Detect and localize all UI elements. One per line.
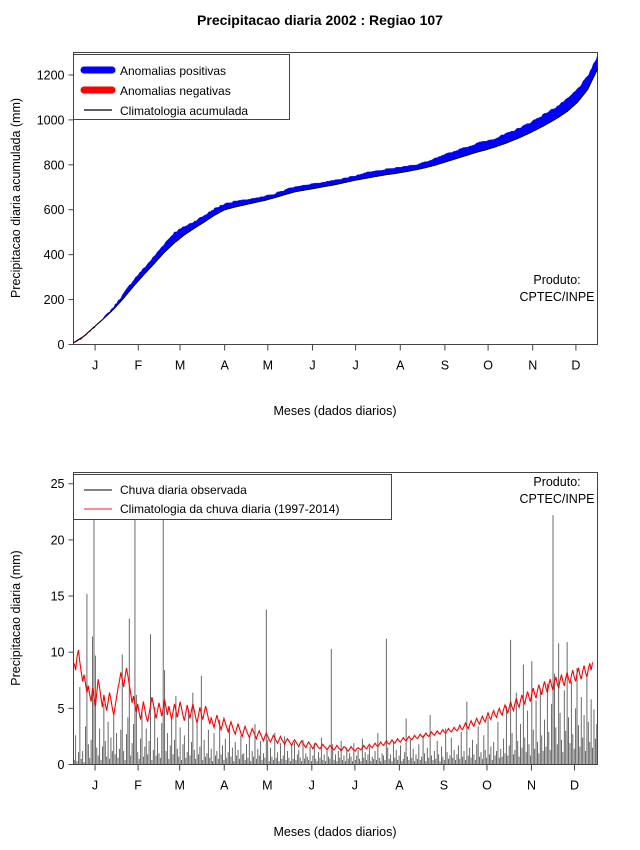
daily-rain-bar <box>160 758 161 765</box>
daily-rain-bar <box>212 761 213 764</box>
daily-rain-bar <box>560 713 561 765</box>
daily-rain-bar <box>257 749 258 765</box>
daily-rain-bar <box>570 743 571 764</box>
daily-rain-bar <box>517 741 518 765</box>
daily-rain-bar <box>454 750 455 765</box>
daily-rain-bar <box>521 748 522 765</box>
daily-rain-bar <box>123 751 124 764</box>
daily-rain-bar <box>390 754 391 764</box>
daily-rain-bar <box>91 740 92 765</box>
svg-text:0: 0 <box>58 758 65 772</box>
daily-rain-bar <box>512 733 513 764</box>
daily-rain-bar <box>327 749 328 765</box>
daily-rain-bar <box>568 717 569 764</box>
daily-rain-bar <box>530 756 531 765</box>
daily-rain-bar <box>377 733 378 764</box>
svg-text:F: F <box>134 779 142 793</box>
daily-rain-bar <box>204 740 205 765</box>
daily-rain-bar <box>171 716 172 764</box>
daily-rain-bar <box>529 744 530 764</box>
daily-rain-bar <box>264 758 265 765</box>
daily-rain-bar <box>462 757 463 765</box>
daily-precipitation-panel: 0510152025 JFMAMJJASOND Precipitacao dia… <box>0 430 640 850</box>
x-axis-title-bottom: Meses (dados diarios) <box>274 825 397 839</box>
svg-text:A: A <box>220 359 229 373</box>
svg-text:J: J <box>353 359 359 373</box>
daily-rain-bar <box>452 758 453 765</box>
daily-rain-bar <box>161 723 162 765</box>
daily-rain-bar <box>418 744 419 764</box>
daily-rain-bar <box>420 760 421 764</box>
figure-page: Precipitacao diaria 2002 : Regiao 107 02… <box>0 0 640 850</box>
daily-rain-bar <box>132 743 133 764</box>
daily-rain-bar <box>296 760 297 764</box>
accumulated-precipitation-panel: Precipitacao diaria 2002 : Regiao 107 02… <box>0 0 640 430</box>
daily-rain-bar <box>488 717 489 764</box>
daily-rain-bar <box>479 757 480 765</box>
legend-label-observed-daily: Chuva diaria observada <box>120 483 247 497</box>
daily-rain-bar <box>553 515 554 764</box>
x-axis-bottom: JFMAMJJASOND <box>74 765 598 793</box>
daily-rain-bar <box>207 753 208 764</box>
daily-rain-bar <box>149 741 150 765</box>
svg-text:O: O <box>482 779 492 793</box>
daily-rain-bar <box>156 756 157 765</box>
daily-rain-bar <box>235 742 236 764</box>
daily-rain-bar <box>102 747 103 765</box>
daily-rain-bar <box>283 756 284 765</box>
daily-rain-bar <box>373 759 374 765</box>
daily-rain-bar <box>564 690 565 764</box>
daily-rain-bar <box>427 748 428 765</box>
daily-rain-bar <box>435 759 436 765</box>
daily-climatology-line <box>74 650 592 751</box>
daily-rain-bar <box>183 744 184 764</box>
daily-rain-bar <box>187 752 188 764</box>
daily-rain-bar <box>348 759 349 765</box>
daily-rain-bar <box>482 759 483 765</box>
daily-rain-bar <box>536 700 537 764</box>
svg-text:M: M <box>175 779 185 793</box>
daily-rain-bar <box>137 752 138 764</box>
daily-rain-bar <box>243 753 244 764</box>
daily-rain-bar <box>375 751 376 764</box>
daily-rain-bar <box>336 761 337 764</box>
daily-rain-bar <box>380 761 381 764</box>
daily-rain-bar <box>356 756 357 765</box>
daily-rain-bar <box>191 742 192 764</box>
daily-rain-bar <box>538 753 539 764</box>
daily-rain-bar <box>312 756 313 765</box>
daily-rain-bar <box>324 754 325 764</box>
daily-rain-bar <box>77 761 78 764</box>
daily-rain-bar <box>201 676 202 765</box>
daily-rain-bar <box>223 760 224 764</box>
daily-rain-bar <box>475 760 476 764</box>
daily-rain-bar <box>226 758 227 765</box>
daily-rain-bar <box>383 756 384 765</box>
daily-rain-bar <box>85 726 86 764</box>
daily-rain-bar <box>441 747 442 765</box>
daily-rain-bar <box>493 742 494 764</box>
legend-label-positive-anomaly: Anomalias positivas <box>120 64 226 78</box>
daily-rain-bar <box>266 610 267 765</box>
svg-text:M: M <box>175 359 185 373</box>
daily-rain-bar <box>469 748 470 765</box>
daily-rain-bar <box>82 751 83 764</box>
daily-rain-bar <box>370 761 371 764</box>
daily-rain-bar <box>310 747 311 765</box>
daily-rain-bar <box>273 760 274 764</box>
daily-rain-bar <box>547 684 548 765</box>
daily-rain-bar <box>144 747 145 765</box>
daily-rain-bar <box>444 760 445 764</box>
daily-rain-bar <box>157 738 158 765</box>
daily-rain-bar <box>451 738 452 765</box>
legend-top: Anomalias positivas Anomalias negativas … <box>74 55 290 120</box>
daily-rain-bar <box>136 695 137 765</box>
daily-rain-bar <box>565 731 566 765</box>
svg-text:J: J <box>309 359 315 373</box>
daily-rain-bar <box>99 729 100 765</box>
daily-rain-bar <box>376 760 377 764</box>
daily-rain-bar <box>399 756 400 765</box>
daily-rain-bar <box>472 740 473 765</box>
daily-rain-bar <box>345 761 346 764</box>
daily-rain-bar <box>465 760 466 764</box>
daily-rain-bar <box>101 760 102 764</box>
daily-rain-bar <box>423 735 424 764</box>
daily-rain-bar <box>279 761 280 764</box>
daily-rain-bar <box>416 754 417 764</box>
daily-rain-bar <box>108 722 109 765</box>
daily-rain-bar <box>125 760 126 764</box>
daily-rain-bar <box>118 758 119 765</box>
daily-rain-bar <box>284 736 285 764</box>
daily-rain-bar <box>298 750 299 765</box>
daily-rain-bar <box>106 757 107 765</box>
daily-rain-bar <box>197 721 198 765</box>
daily-rain-bar <box>392 761 393 764</box>
daily-rain-bar <box>421 757 422 765</box>
daily-rain-bar <box>147 754 148 764</box>
daily-rain-bar <box>365 752 366 764</box>
daily-rain-bar <box>502 757 503 765</box>
daily-rain-bar <box>433 760 434 764</box>
svg-text:800: 800 <box>44 158 65 172</box>
daily-rain-bar <box>464 751 465 764</box>
daily-rain-bar <box>382 753 383 764</box>
daily-rain-bar <box>325 761 326 764</box>
daily-rain-bar <box>233 761 234 764</box>
daily-rain-bar <box>403 759 404 765</box>
svg-text:15: 15 <box>51 590 65 604</box>
daily-rain-bar <box>526 752 527 764</box>
daily-rain-bar <box>495 756 496 765</box>
daily-rain-bar <box>506 706 507 764</box>
daily-rain-bar <box>94 497 95 764</box>
daily-rain-bar <box>174 740 175 765</box>
daily-rain-bar <box>514 750 515 765</box>
daily-rain-bar <box>379 758 380 765</box>
daily-rain-bar <box>431 756 432 765</box>
daily-rain-bar <box>88 744 89 764</box>
daily-rain-bar <box>247 758 248 765</box>
daily-rain-bar <box>516 693 517 765</box>
daily-climatology-curve <box>74 650 592 751</box>
daily-rain-bar <box>78 752 79 764</box>
daily-rain-bar <box>505 753 506 764</box>
daily-rain-bar <box>490 747 491 765</box>
daily-rain-bar <box>437 741 438 765</box>
svg-text:J: J <box>309 779 315 793</box>
daily-rain-bar <box>548 732 549 765</box>
daily-rain-bar <box>589 742 590 764</box>
daily-rain-bar <box>216 751 217 764</box>
svg-text:M: M <box>262 779 272 793</box>
daily-rain-bar <box>414 761 415 764</box>
daily-rain-bar <box>242 754 243 764</box>
daily-rain-bar <box>291 745 292 764</box>
daily-rain-bar <box>363 758 364 765</box>
daily-rain-bar <box>322 760 323 764</box>
daily-rain-bar <box>259 756 260 765</box>
daily-rain-bar <box>164 670 165 764</box>
daily-rain-bar <box>115 754 116 764</box>
daily-rain-bar <box>318 752 319 764</box>
daily-rain-bar <box>434 751 435 764</box>
daily-rain-bar <box>438 754 439 764</box>
daily-rain-bar <box>96 748 97 765</box>
svg-text:N: N <box>528 359 537 373</box>
daily-rain-bar <box>304 759 305 765</box>
svg-text:400: 400 <box>44 248 65 262</box>
daily-rain-bar <box>133 724 134 764</box>
daily-rain-bar <box>209 758 210 765</box>
daily-rain-bar <box>344 756 345 765</box>
daily-rain-bar <box>79 687 80 764</box>
daily-rain-bar <box>445 729 446 765</box>
daily-rain-bar <box>260 741 261 765</box>
svg-text:200: 200 <box>44 293 65 307</box>
daily-rain-bar <box>595 739 596 765</box>
daily-rain-bar <box>139 759 140 765</box>
daily-rain-bar <box>109 759 110 765</box>
daily-rain-bar <box>328 757 329 765</box>
daily-rain-bar <box>113 713 114 765</box>
daily-rain-bar <box>496 751 497 764</box>
daily-rain-bar <box>485 750 486 765</box>
daily-rain-bar <box>588 722 589 765</box>
daily-rain-bar <box>519 757 520 765</box>
daily-rain-bar <box>98 756 99 765</box>
daily-rain-bar <box>544 720 545 765</box>
daily-rain-bar <box>458 745 459 764</box>
svg-text:S: S <box>440 779 448 793</box>
daily-rain-bar <box>280 743 281 764</box>
svg-text:25: 25 <box>51 477 65 491</box>
daily-rain-bar <box>459 759 460 765</box>
daily-rain-bar <box>290 761 291 764</box>
daily-rain-bar <box>578 725 579 764</box>
daily-rain-bar <box>384 760 385 764</box>
daily-rain-bar <box>410 740 411 765</box>
daily-rain-bar <box>329 759 330 765</box>
daily-rain-bar <box>190 756 191 765</box>
daily-rain-bar <box>119 749 120 765</box>
daily-rain-bar <box>159 753 160 764</box>
daily-rain-bar <box>358 750 359 765</box>
daily-rain-bar <box>181 760 182 764</box>
daily-rain-bar <box>471 758 472 765</box>
daily-rain-bar <box>231 757 232 765</box>
daily-rain-bar <box>215 756 216 765</box>
svg-text:N: N <box>527 779 536 793</box>
svg-text:D: D <box>570 779 579 793</box>
svg-text:F: F <box>134 359 142 373</box>
daily-rain-bar <box>386 639 387 765</box>
daily-rain-bar <box>489 754 490 764</box>
daily-rain-bar <box>507 756 508 765</box>
daily-rain-bar <box>394 758 395 765</box>
daily-rain-bar <box>271 757 272 765</box>
daily-rain-bar <box>550 750 551 765</box>
daily-rain-bar <box>396 750 397 765</box>
daily-rain-bar <box>188 709 189 764</box>
daily-rain-bar <box>591 699 592 764</box>
daily-rain-bar <box>194 750 195 765</box>
daily-rain-bar <box>404 752 405 764</box>
daily-rain-bar <box>294 742 295 764</box>
daily-rain-bar <box>205 757 206 765</box>
daily-rain-bar <box>120 730 121 765</box>
daily-rain-bar <box>92 636 93 764</box>
daily-rain-bar <box>211 749 212 765</box>
producer-annotation-line2: CPTEC/INPE <box>519 290 594 304</box>
daily-rain-bar <box>218 759 219 765</box>
daily-rain-bar <box>281 759 282 765</box>
daily-rain-bar <box>448 759 449 765</box>
accumulated-precipitation-chart: Precipitacao diaria 2002 : Regiao 107 02… <box>0 0 640 430</box>
daily-rain-bar <box>557 744 558 764</box>
daily-rain-bar <box>461 732 462 765</box>
daily-rain-bar <box>413 749 414 765</box>
daily-rain-bar <box>594 709 595 764</box>
daily-rain-bar <box>320 758 321 765</box>
daily-rain-bar <box>246 744 247 764</box>
daily-precipitation-chart: 0510152025 JFMAMJJASOND Precipitacao dia… <box>0 430 640 850</box>
daily-rain-bar <box>349 753 350 764</box>
daily-rain-bar <box>126 734 127 764</box>
daily-rain-bar <box>168 759 169 765</box>
daily-rain-bar <box>533 730 534 765</box>
daily-rain-bar <box>572 734 573 764</box>
x-axis-top: JFMAMJJASOND <box>74 345 598 373</box>
daily-rain-bar <box>401 761 402 764</box>
daily-rain-bar <box>170 745 171 764</box>
daily-rain-bar <box>334 760 335 764</box>
daily-rain-bar <box>195 759 196 765</box>
daily-rain-bar <box>232 748 233 765</box>
daily-rain-bar <box>571 681 572 764</box>
daily-rain-bar <box>308 760 309 764</box>
daily-rain-bar <box>173 754 174 764</box>
daily-rain-bar <box>222 745 223 764</box>
daily-rain-bar <box>341 741 342 765</box>
daily-rain-bar <box>476 744 477 764</box>
daily-rain-bar <box>497 722 498 765</box>
daily-rain-bar <box>520 724 521 764</box>
daily-rain-bar <box>214 733 215 764</box>
daily-rain-bar <box>103 704 104 765</box>
daily-rain-bar <box>342 760 343 764</box>
daily-rain-bar <box>372 757 373 765</box>
daily-rain-bar <box>127 717 128 764</box>
daily-rain-bar <box>293 759 294 765</box>
daily-rain-bar <box>150 634 151 764</box>
daily-rain-bar <box>153 750 154 765</box>
daily-rain-bar <box>142 711 143 765</box>
daily-rain-bar <box>239 759 240 765</box>
svg-text:J: J <box>92 359 98 373</box>
daily-rain-bar <box>321 738 322 765</box>
daily-rain-bar <box>468 756 469 765</box>
daily-rain-bar <box>300 758 301 765</box>
daily-rain-bar <box>567 642 568 764</box>
daily-rain-bar <box>81 759 82 765</box>
daily-rain-bar <box>596 724 597 764</box>
daily-rain-bar <box>307 757 308 765</box>
daily-rain-bar <box>393 742 394 764</box>
svg-text:5: 5 <box>58 702 65 716</box>
daily-rain-bar <box>140 739 141 765</box>
daily-rain-bar <box>555 727 556 764</box>
daily-rain-bar <box>208 730 209 765</box>
daily-rain-bar <box>558 643 559 764</box>
daily-rain-bar <box>317 761 318 764</box>
daily-rain-bar <box>466 702 467 765</box>
daily-rain-bar <box>202 760 203 764</box>
daily-rain-bar <box>355 760 356 764</box>
daily-rain-bar <box>151 760 152 764</box>
daily-rain-bar <box>225 739 226 765</box>
daily-rain-bar <box>105 741 106 765</box>
svg-text:20: 20 <box>51 533 65 547</box>
daily-rain-bar <box>575 708 576 764</box>
daily-rain-bar <box>387 748 388 765</box>
page-title: Precipitacao diaria 2002 : Regiao 107 <box>197 12 443 28</box>
daily-rain-bar <box>134 490 135 764</box>
daily-rain-bar <box>541 735 542 764</box>
daily-rain-bar <box>130 756 131 765</box>
daily-rain-bar <box>579 747 580 765</box>
daily-rain-bar <box>400 745 401 764</box>
daily-rain-bar <box>122 654 123 764</box>
daily-rain-bar <box>167 733 168 764</box>
daily-rain-bar <box>523 665 524 765</box>
daily-rain-bar <box>513 754 514 764</box>
daily-rain-bar <box>417 759 418 765</box>
daily-rain-bar <box>338 751 339 764</box>
daily-rain-bar <box>478 726 479 764</box>
svg-text:S: S <box>441 359 449 373</box>
daily-rain-bar <box>198 754 199 764</box>
svg-text:A: A <box>220 779 229 793</box>
daily-rain-bar <box>256 759 257 765</box>
daily-rain-bar <box>89 758 90 765</box>
observed-daily-bars <box>74 490 597 764</box>
daily-rain-bar <box>546 747 547 765</box>
